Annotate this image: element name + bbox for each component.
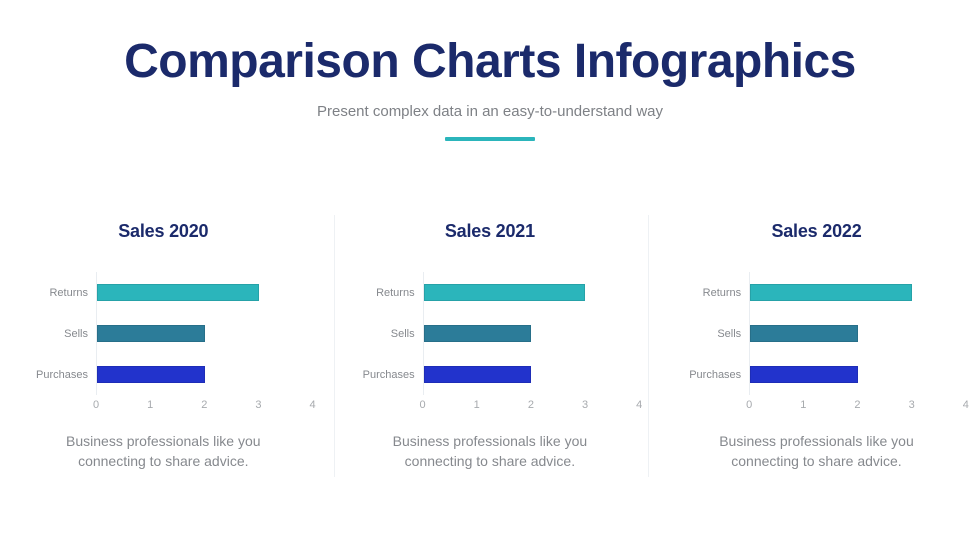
accent-bar-container (0, 137, 980, 141)
chart-panel-2: Sales 2022 Returns Sells Purchases (653, 213, 980, 486)
bar-sells[interactable] (750, 325, 858, 342)
category-label-returns: Returns (681, 272, 749, 313)
page-header: Comparison Charts Infographics Present c… (0, 0, 980, 141)
bar-row (97, 313, 313, 354)
axis-tick-3: 3 (909, 399, 915, 411)
axis-tick-2: 2 (528, 399, 534, 411)
bar-purchases[interactable] (97, 366, 205, 383)
value-axis: 01234 (423, 395, 640, 415)
plot-area: Returns Sells Purchases (28, 272, 313, 395)
plot-area: Returns Sells Purchases (681, 272, 966, 395)
category-axis: Returns Sells Purchases (28, 272, 96, 395)
axis-tick-1: 1 (147, 399, 153, 411)
chart-title: Sales 2020 (14, 213, 313, 242)
axis-tick-3: 3 (582, 399, 588, 411)
bar-sells[interactable] (424, 325, 532, 342)
category-label-returns: Returns (355, 272, 423, 313)
axis-tick-4: 4 (310, 399, 316, 411)
axis-tick-3: 3 (255, 399, 261, 411)
bar-row (97, 354, 313, 395)
bar-sells[interactable] (97, 325, 205, 342)
category-label-sells: Sells (355, 313, 423, 354)
panel-caption: Business professionals like you connecti… (667, 431, 966, 472)
page-title: Comparison Charts Infographics (0, 36, 980, 89)
axis-tick-1: 1 (800, 399, 806, 411)
chart-title: Sales 2021 (341, 213, 640, 242)
bar-row (750, 272, 966, 313)
axis-tick-4: 4 (963, 399, 969, 411)
chart-panel-0: Sales 2020 Returns Sells Purchases (0, 213, 327, 486)
bars-area (423, 272, 640, 395)
bar-chart: Returns Sells Purchases 01234 (667, 272, 966, 415)
page-subtitle: Present complex data in an easy-to-under… (0, 103, 980, 120)
category-label-purchases: Purchases (355, 354, 423, 395)
bar-chart: Returns Sells Purchases 01234 (14, 272, 313, 415)
category-axis: Returns Sells Purchases (355, 272, 423, 395)
axis-tick-2: 2 (201, 399, 207, 411)
category-label-sells: Sells (28, 313, 96, 354)
panel-caption: Business professionals like you connecti… (341, 431, 640, 472)
accent-bar (445, 137, 535, 141)
axis-tick-0: 0 (420, 399, 426, 411)
bar-row (97, 272, 313, 313)
value-axis: 01234 (96, 395, 313, 415)
axis-tick-4: 4 (636, 399, 642, 411)
bar-row (750, 354, 966, 395)
bar-purchases[interactable] (424, 366, 532, 383)
axis-tick-0: 0 (746, 399, 752, 411)
chart-title: Sales 2022 (667, 213, 966, 242)
category-label-purchases: Purchases (681, 354, 749, 395)
axis-tick-1: 1 (474, 399, 480, 411)
bar-returns[interactable] (750, 284, 912, 301)
chart-panel-1: Sales 2021 Returns Sells Purchases (327, 213, 654, 486)
category-axis: Returns Sells Purchases (681, 272, 749, 395)
bar-returns[interactable] (97, 284, 259, 301)
bar-chart: Returns Sells Purchases 01234 (341, 272, 640, 415)
bars-area (749, 272, 966, 395)
chart-panels: Sales 2020 Returns Sells Purchases (0, 213, 980, 486)
bar-returns[interactable] (424, 284, 586, 301)
plot-area: Returns Sells Purchases (355, 272, 640, 395)
category-label-returns: Returns (28, 272, 96, 313)
axis-tick-2: 2 (854, 399, 860, 411)
bar-row (750, 313, 966, 354)
bar-row (424, 272, 640, 313)
bar-purchases[interactable] (750, 366, 858, 383)
value-axis: 01234 (749, 395, 966, 415)
category-label-sells: Sells (681, 313, 749, 354)
bar-row (424, 313, 640, 354)
bar-row (424, 354, 640, 395)
bars-area (96, 272, 313, 395)
category-label-purchases: Purchases (28, 354, 96, 395)
panel-caption: Business professionals like you connecti… (14, 431, 313, 472)
axis-tick-0: 0 (93, 399, 99, 411)
